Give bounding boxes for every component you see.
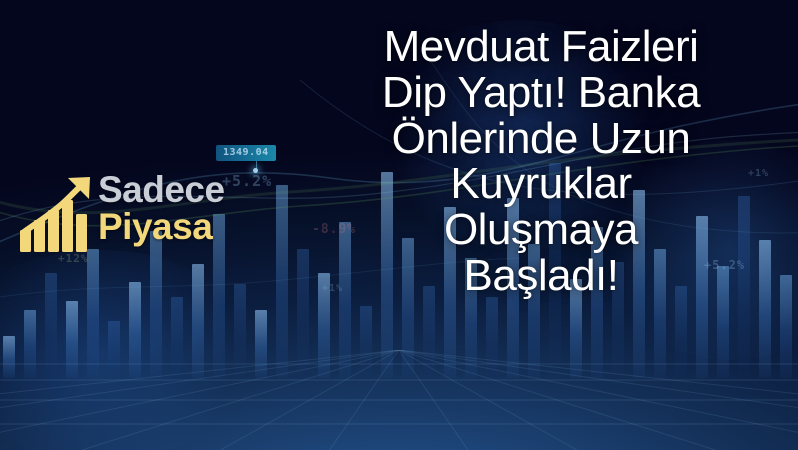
data-point-node-icon	[253, 168, 258, 173]
headline: Mevduat FaizleriDip Yaptı! BankaÖnlerind…	[292, 24, 790, 299]
bar-chart-arrow-up-icon	[18, 174, 100, 254]
headline-line-2: Dip Yaptı! Banka	[292, 70, 790, 116]
logo-text-sadece: Sadece	[98, 172, 225, 208]
brand-logo[interactable]: Sadece Piyasa	[18, 170, 233, 258]
headline-line-4: Kuyruklar	[292, 161, 790, 207]
headline-line-5: Oluşmaya	[292, 207, 790, 253]
headline-line-1: Mevduat Faizleri	[292, 24, 790, 70]
headline-line-3: Önlerinde Uzun	[292, 116, 790, 162]
logo-text-piyasa: Piyasa	[98, 209, 225, 245]
price-tag-badge: 1349.04	[216, 145, 276, 161]
headline-line-6: Başladı!	[292, 253, 790, 299]
promo-banner: 1349.04 +5.2% -8.9% +5.2% +12% +1% +1% S…	[0, 0, 798, 450]
